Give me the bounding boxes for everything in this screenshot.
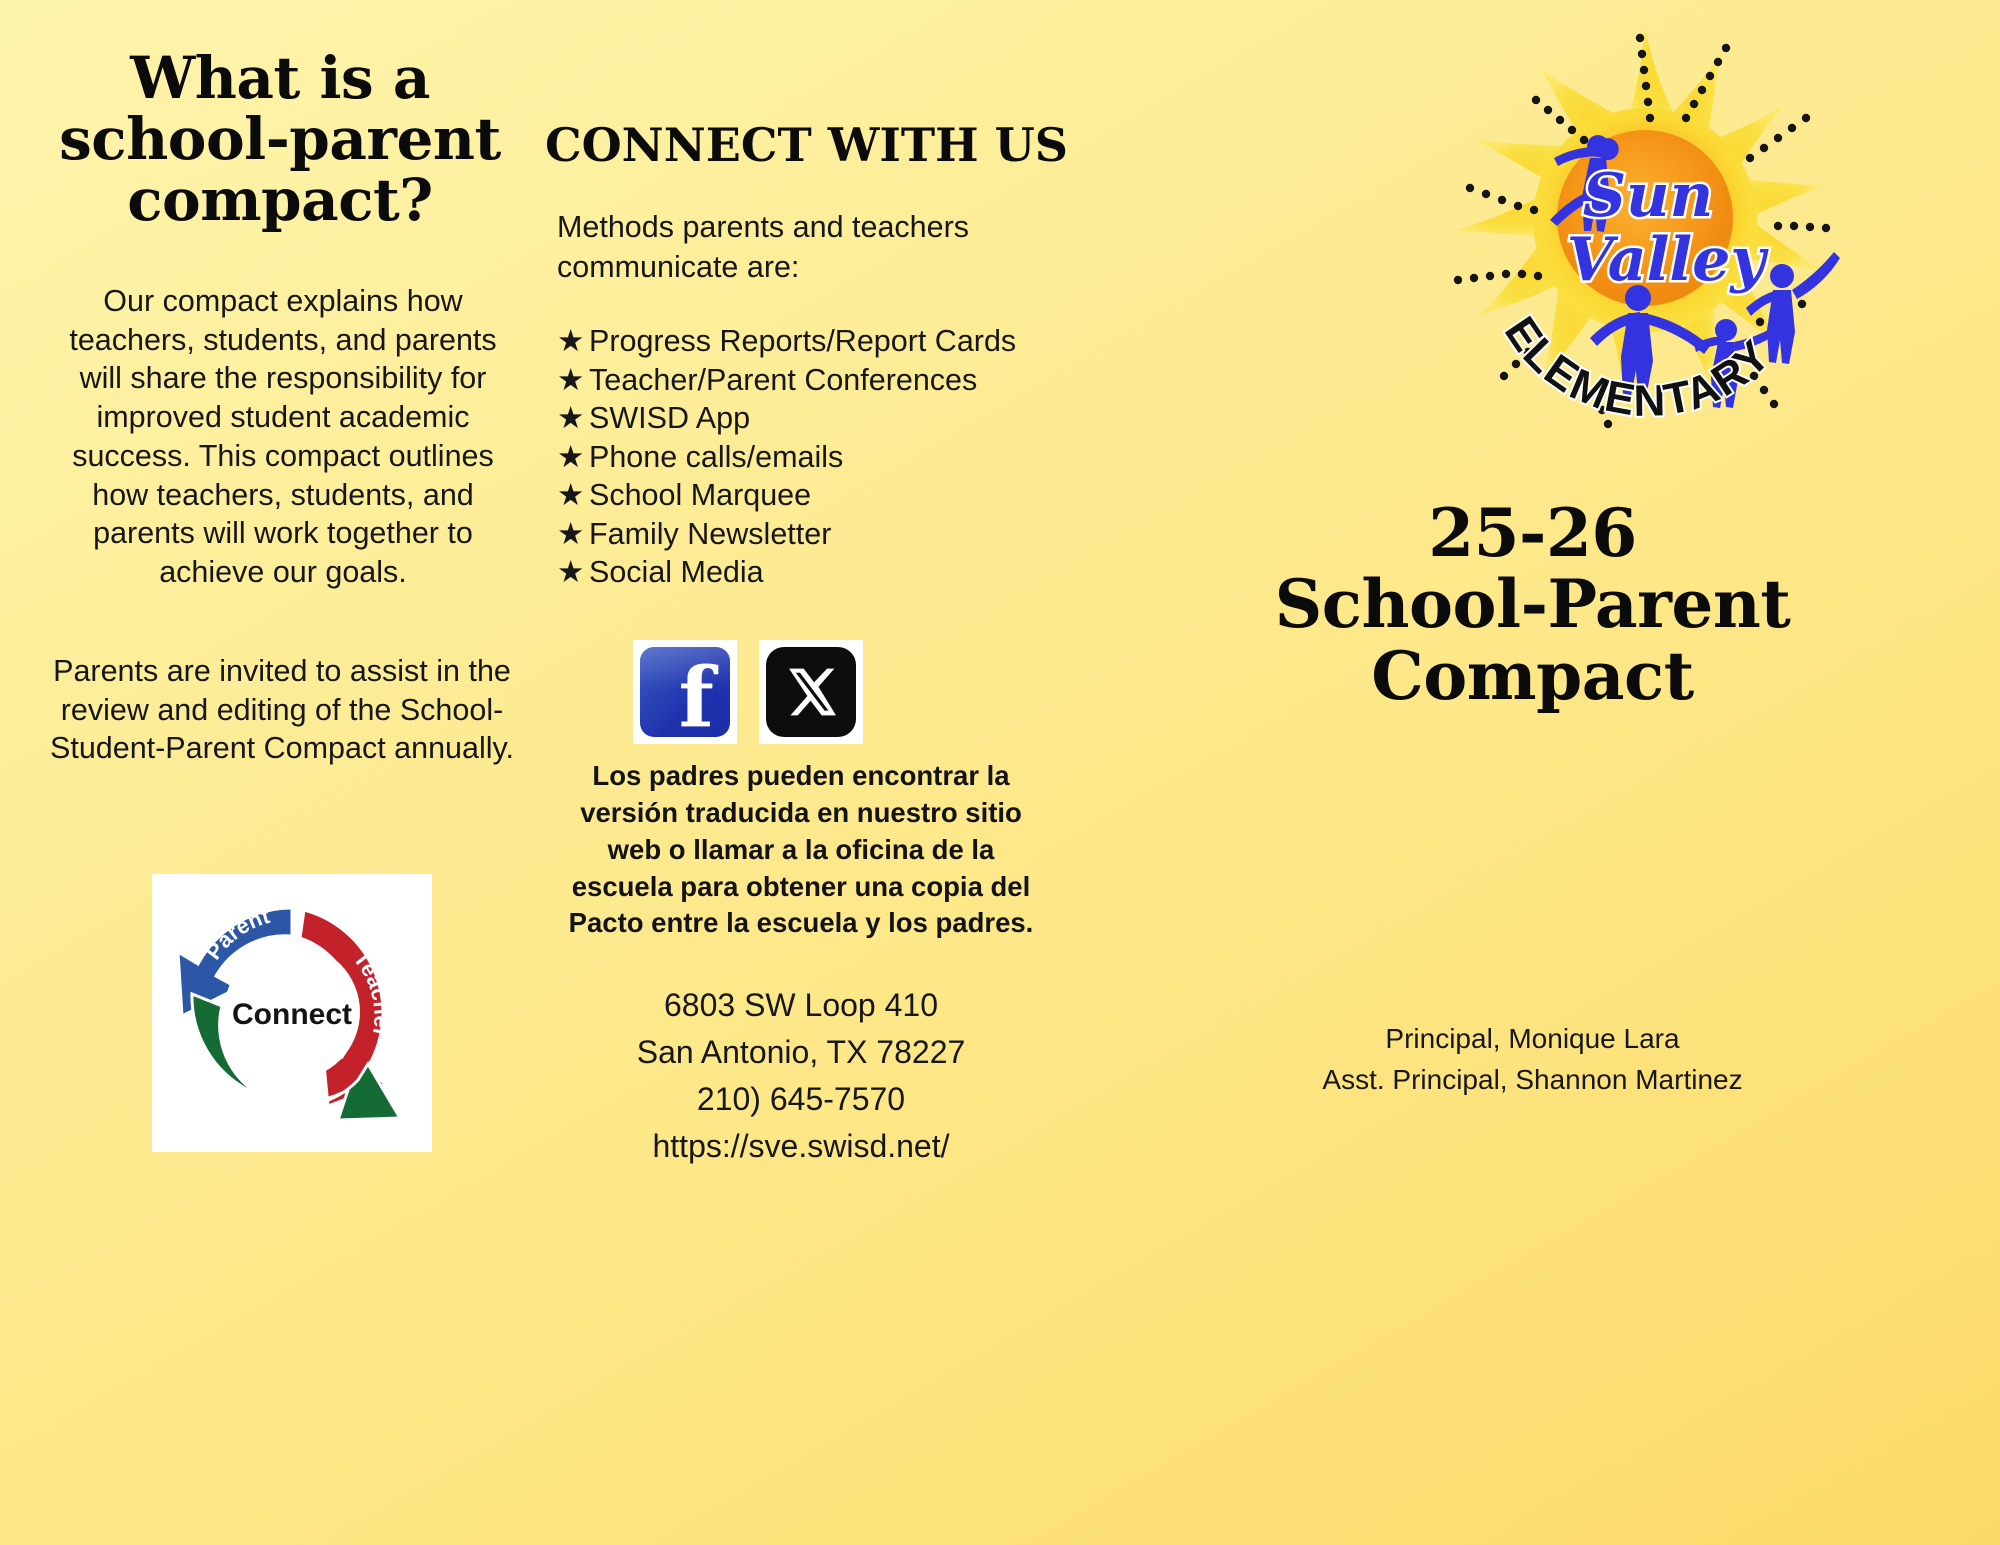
- list-item-label: Social Media: [589, 555, 764, 589]
- facebook-link[interactable]: f: [633, 640, 737, 744]
- brochure-title-line2: School-Parent: [1085, 569, 1980, 640]
- list-item-label: Teacher/Parent Conferences: [589, 363, 977, 397]
- address-city-state-zip: San Antonio, TX 78227: [559, 1029, 1043, 1076]
- x-twitter-link[interactable]: [759, 640, 863, 744]
- phone-number[interactable]: 210) 645-7570: [559, 1076, 1043, 1123]
- list-item: ★Teacher/Parent Conferences: [557, 361, 1057, 400]
- list-item: ★SWISD App: [557, 399, 1057, 438]
- facebook-f-glyph: f: [679, 657, 714, 737]
- page-title-what-is-a-compact: What is a school-parent compact?: [20, 48, 540, 231]
- list-item-label: Family Newsletter: [589, 517, 831, 551]
- star-bullet-icon: ★: [557, 361, 589, 400]
- connect-with-us-heading: CONNECT WITH US: [545, 118, 1068, 172]
- star-bullet-icon: ★: [557, 399, 589, 438]
- list-item-label: School Marquee: [589, 478, 811, 512]
- list-item: ★Family Newsletter: [557, 515, 1057, 554]
- star-bullet-icon: ★: [557, 553, 589, 592]
- communication-methods-intro: Methods parents and teachers communicate…: [557, 208, 1037, 287]
- star-bullet-icon: ★: [557, 322, 589, 361]
- parent-review-paragraph: Parents are invited to assist in the rev…: [26, 652, 538, 768]
- brochure-title-line3: Compact: [1085, 641, 1980, 712]
- star-bullet-icon: ★: [557, 515, 589, 554]
- spanish-translation-note: Los padres pueden encontrar la versión t…: [559, 758, 1043, 942]
- logo-script-sun: Sun: [1583, 161, 1714, 231]
- communication-methods-list: ★Progress Reports/Report Cards ★Teacher/…: [557, 322, 1057, 592]
- connect-center-label: Connect: [232, 998, 352, 1031]
- website-url[interactable]: https://sve.swisd.net/: [559, 1123, 1043, 1170]
- list-item-label: SWISD App: [589, 401, 750, 435]
- middle-column: CONNECT WITH US Methods parents and teac…: [545, 0, 1065, 1545]
- asst-principal-name: Asst. Principal, Shannon Martinez: [1085, 1059, 1980, 1100]
- brochure-title: 25-26 School-Parent Compact: [1085, 498, 1980, 712]
- facebook-icon: f: [640, 647, 730, 737]
- school-contact-info: 6803 SW Loop 410 San Antonio, TX 78227 2…: [559, 982, 1043, 1170]
- principal-name: Principal, Monique Lara: [1085, 1018, 1980, 1059]
- address-street: 6803 SW Loop 410: [559, 982, 1043, 1029]
- list-item: ★School Marquee: [557, 476, 1057, 515]
- list-item-label: Progress Reports/Report Cards: [589, 324, 1016, 358]
- sun-valley-elementary-logo: Sun Valley ELEMENTARY: [1430, 8, 1860, 438]
- connect-cycle-diagram: Connect Parent Teacher Student: [152, 874, 432, 1152]
- star-bullet-icon: ★: [557, 476, 589, 515]
- compact-explanation-paragraph: Our compact explains how teachers, stude…: [68, 282, 498, 592]
- logo-script-valley: Valley: [1567, 225, 1770, 295]
- left-column: What is a school-parent compact? Our com…: [20, 0, 540, 1545]
- x-twitter-icon: [766, 647, 856, 737]
- list-item: ★Social Media: [557, 553, 1057, 592]
- administration-names: Principal, Monique Lara Asst. Principal,…: [1085, 1018, 1980, 1101]
- brochure-page: What is a school-parent compact? Our com…: [0, 0, 2000, 1545]
- list-item-label: Phone calls/emails: [589, 440, 843, 474]
- social-media-icons: f: [633, 640, 863, 744]
- list-item: ★Progress Reports/Report Cards: [557, 322, 1057, 361]
- brochure-title-year: 25-26: [1085, 498, 1980, 569]
- right-column: Sun Valley ELEMENTARY 25-26 School-Paren…: [1085, 0, 1985, 1545]
- star-bullet-icon: ★: [557, 438, 589, 477]
- list-item: ★Phone calls/emails: [557, 438, 1057, 477]
